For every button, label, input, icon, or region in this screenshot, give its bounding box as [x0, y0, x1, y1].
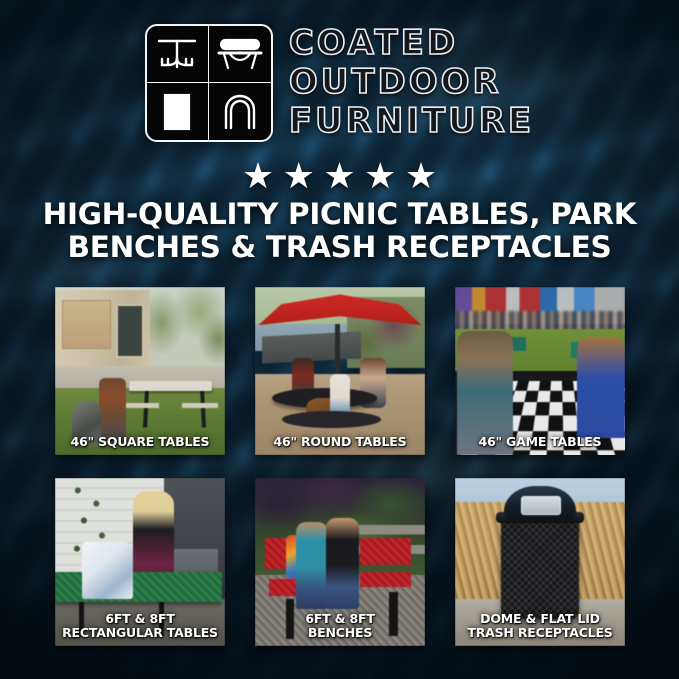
logo-word-line-3: FURNITURE [289, 104, 534, 138]
star-icon-5: ★ [405, 158, 437, 194]
picnic-table-icon [147, 26, 209, 83]
caption-line-1: 46" SQUARE TABLES [57, 435, 223, 449]
logo-mark [145, 24, 273, 142]
logo-word-line-1: COATED [289, 26, 458, 60]
marketing-banner: COATED OUTDOOR FURNITURE ★ ★ ★ ★ ★ HIGH-… [0, 0, 679, 679]
product-photo-square-tables [55, 287, 225, 455]
product-caption-trash-receptacles: DOME & FLAT LID TRASH RECEPTACLES [457, 612, 623, 640]
caption-line-2: RECTANGULAR TABLES [57, 626, 223, 640]
star-icon-4: ★ [364, 158, 396, 194]
product-caption-round-tables: 46" ROUND TABLES [257, 435, 423, 449]
logo-word-line-2: OUTDOOR [289, 65, 502, 99]
bike-rack-icon [209, 83, 271, 140]
product-caption-square-tables: 46" SQUARE TABLES [57, 435, 223, 449]
star-rating: ★ ★ ★ ★ ★ [0, 158, 679, 194]
caption-line-1: 46" ROUND TABLES [257, 435, 423, 449]
star-icon-2: ★ [283, 158, 315, 194]
brand-logo: COATED OUTDOOR FURNITURE [0, 24, 679, 142]
product-photo-game-tables [455, 287, 625, 455]
product-caption-game-tables: 46" GAME TABLES [457, 435, 623, 449]
product-tile-square-tables[interactable]: 46" SQUARE TABLES [55, 287, 225, 455]
product-tile-trash-receptacles[interactable]: DOME & FLAT LID TRASH RECEPTACLES [455, 478, 625, 646]
product-caption-benches: 6FT & 8FT BENCHES [257, 612, 423, 640]
bench-icon [209, 26, 271, 83]
headline-line-2: BENCHES & TRASH RECEPTACLES [28, 231, 651, 264]
product-grid: 46" SQUARE TABLES 46" ROUND TABLES [55, 287, 624, 646]
product-tile-rectangular-tables[interactable]: 6FT & 8FT RECTANGULAR TABLES [55, 478, 225, 646]
caption-line-1: 6FT & 8FT [257, 612, 423, 626]
caption-line-2: BENCHES [257, 626, 423, 640]
headline: HIGH-QUALITY PICNIC TABLES, PARK BENCHES… [28, 198, 651, 264]
star-icon-3: ★ [323, 158, 355, 194]
logo-wordmark: COATED OUTDOOR FURNITURE [289, 24, 534, 138]
trash-receptacle-icon [147, 83, 209, 140]
product-caption-rectangular-tables: 6FT & 8FT RECTANGULAR TABLES [57, 612, 223, 640]
headline-line-1: HIGH-QUALITY PICNIC TABLES, PARK [43, 197, 637, 231]
product-tile-benches[interactable]: 6FT & 8FT BENCHES [255, 478, 425, 646]
product-tile-game-tables[interactable]: 46" GAME TABLES [455, 287, 625, 455]
product-tile-round-tables[interactable]: 46" ROUND TABLES [255, 287, 425, 455]
caption-line-1: DOME & FLAT LID [457, 612, 623, 626]
product-photo-round-tables [255, 287, 425, 455]
caption-line-2: TRASH RECEPTACLES [457, 626, 623, 640]
caption-line-1: 46" GAME TABLES [457, 435, 623, 449]
star-icon-1: ★ [242, 158, 274, 194]
caption-line-1: 6FT & 8FT [57, 612, 223, 626]
